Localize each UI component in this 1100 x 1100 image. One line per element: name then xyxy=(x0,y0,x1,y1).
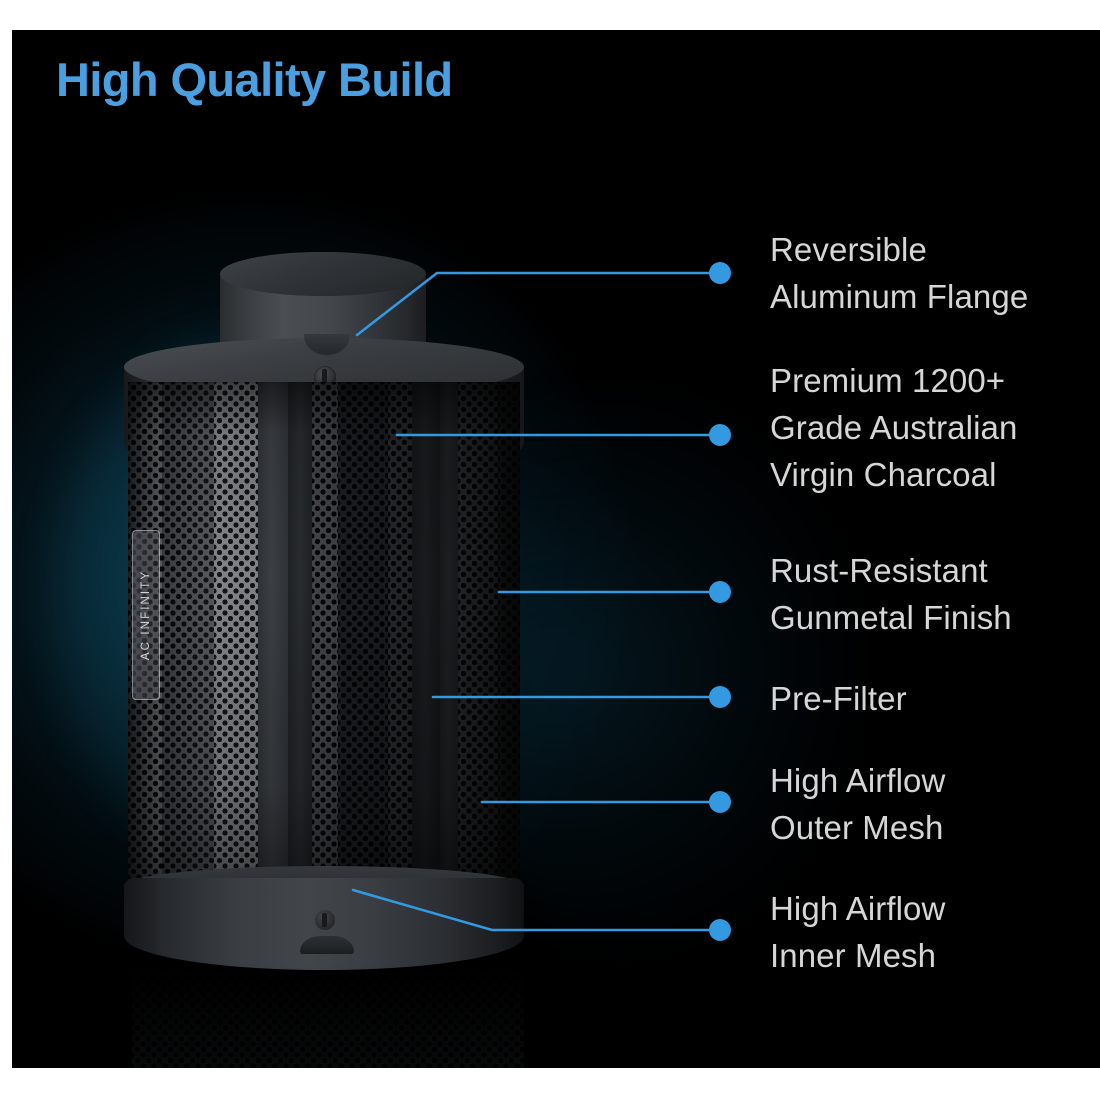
callout-label-reversible-aluminum-flange: Reversible Aluminum Flange xyxy=(770,226,1028,320)
outer-mesh-panel xyxy=(498,382,520,902)
dark-canvas: High Quality Build xyxy=(12,30,1100,1068)
inner-mesh-panel xyxy=(338,382,388,902)
inner-mesh-panel xyxy=(388,382,412,902)
duct-collar-top-face xyxy=(220,252,426,296)
page-title: High Quality Build xyxy=(56,52,453,107)
product-image-carbon-filter: AC INFINITY xyxy=(108,230,548,990)
brand-badge: AC INFINITY xyxy=(132,530,160,700)
cylinder-body xyxy=(128,382,520,902)
callout-label-pre-filter: Pre-Filter xyxy=(770,675,907,722)
inner-mesh-panel xyxy=(312,382,338,902)
callout-label-premium-charcoal: Premium 1200+ Grade Australian Virgin Ch… xyxy=(770,357,1017,498)
callout-dot-rust-resistant-gunmetal-finish[interactable] xyxy=(709,581,731,603)
callout-label-high-airflow-inner-mesh: High Airflow Inner Mesh xyxy=(770,885,945,979)
outer-mesh-panel xyxy=(214,382,258,902)
infographic-stage: High Quality Build xyxy=(0,0,1100,1100)
bottom-tab xyxy=(300,936,354,954)
callout-dot-reversible-aluminum-flange[interactable] xyxy=(709,262,731,284)
callout-dot-pre-filter[interactable] xyxy=(709,686,731,708)
solid-panel xyxy=(288,382,312,902)
outer-mesh-panel xyxy=(458,382,498,902)
callout-label-high-airflow-outer-mesh: High Airflow Outer Mesh xyxy=(770,757,945,851)
solid-panel xyxy=(258,382,288,902)
outer-mesh-panel xyxy=(162,382,214,902)
solid-panel xyxy=(412,382,440,902)
brand-badge-label: AC INFINITY xyxy=(140,570,152,660)
solid-panel xyxy=(440,382,458,902)
callout-dot-high-airflow-outer-mesh[interactable] xyxy=(709,791,731,813)
bottom-screw-icon xyxy=(315,910,335,930)
callout-dot-premium-charcoal[interactable] xyxy=(709,424,731,446)
callout-label-rust-resistant-gunmetal-finish: Rust-Resistant Gunmetal Finish xyxy=(770,547,1012,641)
callout-dot-high-airflow-inner-mesh[interactable] xyxy=(709,919,731,941)
